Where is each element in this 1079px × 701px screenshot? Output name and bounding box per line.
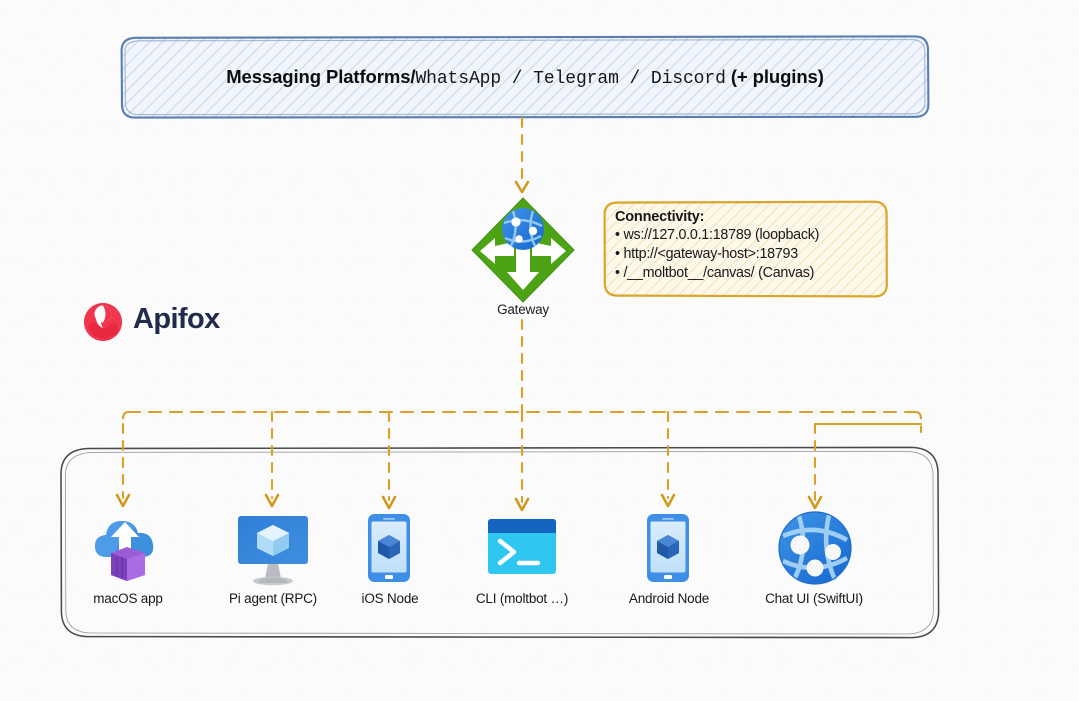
client-node-label: Chat UI (SwiftUI) xyxy=(749,591,879,606)
messaging-platforms-banner: Messaging Platforms/WhatsApp / Telegram … xyxy=(121,36,929,118)
connectivity-title: Connectivity: xyxy=(615,208,875,226)
client-node-label: iOS Node xyxy=(325,591,455,606)
client-node-label: macOS app xyxy=(63,591,193,606)
client-node-ios-node[interactable]: iOS Node xyxy=(325,505,455,606)
connectivity-line-canvas: • /__moltbot__/canvas/ (Canvas) xyxy=(615,264,875,283)
node-icon-slot xyxy=(457,505,587,585)
node-icon-slot xyxy=(325,505,455,585)
node-icon-slot xyxy=(604,505,734,585)
platforms-bold-prefix: Messaging Platforms xyxy=(226,66,410,87)
client-node-pi-agent[interactable]: Pi agent (RPC) xyxy=(208,505,338,606)
gateway-node[interactable]: Gateway xyxy=(468,196,578,331)
gateway-label: Gateway xyxy=(468,302,578,317)
apifox-wordmark: Apifox xyxy=(133,303,220,336)
client-node-chat-ui[interactable]: Chat UI (SwiftUI) xyxy=(749,505,879,606)
platforms-mono-list: WhatsApp / Telegram / Discord xyxy=(415,69,725,89)
node-icon-slot xyxy=(749,505,879,585)
platforms-bold-suffix: (+ plugins) xyxy=(731,66,824,87)
client-node-label: CLI (moltbot …) xyxy=(457,591,587,606)
node-icon-slot xyxy=(63,505,193,585)
client-node-label: Android Node xyxy=(604,591,734,606)
client-node-cli[interactable]: CLI (moltbot …) xyxy=(457,505,587,606)
connectivity-callout: Connectivity: • ws://127.0.0.1:18789 (lo… xyxy=(604,201,887,297)
apifox-watermark: Apifox xyxy=(84,300,220,338)
client-node-android-node[interactable]: Android Node xyxy=(604,505,734,606)
messaging-platforms-text: Messaging Platforms/WhatsApp / Telegram … xyxy=(226,66,824,89)
client-node-macos-app[interactable]: macOS app xyxy=(63,505,193,606)
client-node-label: Pi agent (RPC) xyxy=(208,591,338,606)
connectivity-line-http: • http://<gateway-host>:18793 xyxy=(615,245,875,264)
connectivity-line-ws: • ws://127.0.0.1:18789 (loopback) xyxy=(615,226,875,245)
node-icon-slot xyxy=(208,505,338,585)
